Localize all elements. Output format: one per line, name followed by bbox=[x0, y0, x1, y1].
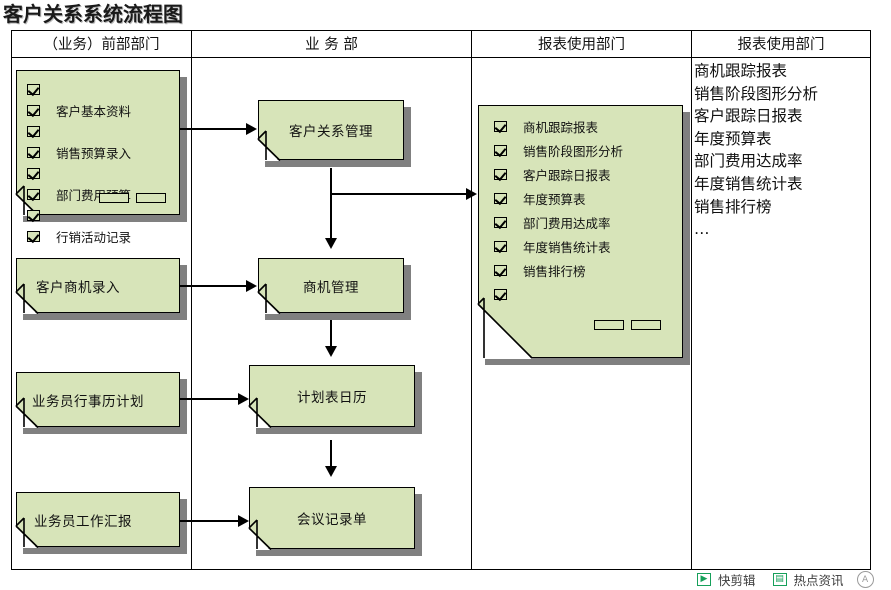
checklist-row bbox=[27, 205, 172, 226]
checklist-row: 客户基本资料 bbox=[27, 100, 172, 121]
checklist-row: 销售排行榜 bbox=[494, 258, 675, 282]
checklist-row bbox=[27, 163, 172, 184]
checkbox-checked-icon[interactable] bbox=[27, 168, 40, 179]
checkbox-checked-icon[interactable] bbox=[27, 231, 40, 242]
checkbox-checked-icon[interactable] bbox=[27, 189, 40, 200]
node-report-document[interactable]: 商机跟踪报表 销售阶段图形分析 客户跟踪日报表 年度预算表 部门费用达成率 年度… bbox=[478, 105, 683, 358]
node-input-document[interactable]: 客户基本资料 销售预算录入 部门费用预算 行销活动记录 bbox=[16, 70, 180, 215]
arrow-head-down-icon bbox=[325, 346, 337, 357]
checkbox-checked-icon[interactable] bbox=[494, 265, 507, 276]
arrow-head-down-icon bbox=[325, 466, 337, 477]
connector-line bbox=[180, 520, 240, 522]
checklist-row: 客户跟踪日报表 bbox=[494, 162, 675, 186]
checklist-row: 部门费用达成率 bbox=[494, 210, 675, 234]
arrow-head-right-icon bbox=[246, 123, 257, 135]
checklist-row: 销售阶段图形分析 bbox=[494, 138, 675, 162]
connector-line bbox=[330, 193, 468, 195]
checklist-label: 客户基本资料 bbox=[56, 101, 131, 120]
column-header-front-department: （业务）前部部门 bbox=[12, 31, 191, 59]
checklist-label: 销售预算录入 bbox=[56, 143, 131, 162]
checkbox-checked-icon[interactable] bbox=[27, 105, 40, 116]
node-label: 计划表日历 bbox=[249, 365, 415, 427]
checklist-label: 客户跟踪日报表 bbox=[523, 165, 611, 184]
body-divider-2 bbox=[471, 58, 472, 569]
bottom-toolbar-label[interactable]: 快剪辑 bbox=[718, 570, 756, 589]
report-list-item: 销售排行榜 bbox=[694, 196, 818, 219]
checkbox-checked-icon[interactable] bbox=[494, 169, 507, 180]
checkbox-checked-icon[interactable] bbox=[27, 147, 40, 158]
node-customer-opportunity-entry[interactable]: 客户商机录入 bbox=[16, 258, 180, 313]
node-salesperson-calendar-plan[interactable]: 业务员行事历计划 bbox=[16, 372, 180, 427]
checklist-label: 销售阶段图形分析 bbox=[523, 141, 623, 160]
document-button-1[interactable] bbox=[99, 193, 129, 203]
checkbox-checked-icon[interactable] bbox=[494, 193, 507, 204]
body-divider-3 bbox=[691, 58, 692, 569]
document-button-2[interactable] bbox=[631, 320, 661, 330]
connector-line bbox=[330, 168, 332, 240]
checklist-row bbox=[27, 121, 172, 142]
checklist-label: 商机跟踪报表 bbox=[523, 117, 598, 136]
checklist-row: 销售预算录入 bbox=[27, 142, 172, 163]
report-list-item: 销售阶段图形分析 bbox=[694, 83, 818, 106]
document-button-1[interactable] bbox=[594, 320, 624, 330]
checkbox-checked-icon[interactable] bbox=[494, 145, 507, 156]
checkbox-checked-icon[interactable] bbox=[494, 289, 507, 300]
arrow-head-down-icon bbox=[325, 238, 337, 249]
node-label: 客户关系管理 bbox=[258, 100, 404, 160]
document-buttons bbox=[594, 320, 661, 330]
report-list-item: 年度销售统计表 bbox=[694, 173, 818, 196]
checklist: 客户基本资料 销售预算录入 部门费用预算 行销活动记录 bbox=[27, 79, 172, 247]
node-label: 商机管理 bbox=[258, 258, 404, 313]
checklist-row: 商机跟踪报表 bbox=[494, 114, 675, 138]
report-list-text: 商机跟踪报表 销售阶段图形分析 客户跟踪日报表 年度预算表 部门费用达成率 年度… bbox=[694, 60, 818, 241]
checkbox-checked-icon[interactable] bbox=[494, 217, 507, 228]
checkbox-checked-icon[interactable] bbox=[27, 126, 40, 137]
column-header-report-list: 报表使用部门 bbox=[692, 31, 870, 59]
table-header-row: （业务）前部部门 业 务 部 报表使用部门 报表使用部门 bbox=[11, 30, 871, 58]
node-salesperson-work-report[interactable]: 业务员工作汇报 bbox=[16, 492, 180, 547]
checkbox-checked-icon[interactable] bbox=[494, 121, 507, 132]
node-opportunity-management[interactable]: 商机管理 bbox=[258, 258, 404, 313]
checklist-label: 年度销售统计表 bbox=[523, 237, 611, 256]
checklist-label: 销售排行榜 bbox=[523, 261, 586, 280]
checklist-row: 年度销售统计表 bbox=[494, 234, 675, 258]
connector-line bbox=[180, 128, 248, 130]
connector-line bbox=[180, 398, 240, 400]
news-icon[interactable]: ▤ bbox=[773, 573, 787, 586]
report-list-item: 年度预算表 bbox=[694, 128, 818, 151]
node-label: 业务员行事历计划 bbox=[16, 372, 180, 427]
node-customer-relationship-management[interactable]: 客户关系管理 bbox=[258, 100, 404, 160]
column-header-report-department: 报表使用部门 bbox=[472, 31, 691, 59]
checklist-label: 年度预算表 bbox=[523, 189, 586, 208]
column-header-business-department: 业 务 部 bbox=[192, 31, 471, 59]
node-label: 业务员工作汇报 bbox=[16, 492, 180, 547]
checklist-label: 部门费用达成率 bbox=[523, 213, 611, 232]
checkbox-checked-icon[interactable] bbox=[27, 210, 40, 221]
report-list-item: … bbox=[694, 218, 818, 241]
page-title: 客户关系系统流程图 bbox=[3, 0, 183, 27]
bottom-toolbar: ▶ 快剪辑 ▤ 热点资讯 A bbox=[697, 570, 874, 589]
checklist-row: 年度预算表 bbox=[494, 186, 675, 210]
node-label: 客户商机录入 bbox=[16, 258, 180, 313]
report-list-item: 商机跟踪报表 bbox=[694, 60, 818, 83]
report-list-item: 客户跟踪日报表 bbox=[694, 105, 818, 128]
connector-line bbox=[330, 440, 332, 468]
checklist-row: 行销活动记录 bbox=[27, 226, 172, 247]
play-icon[interactable]: ▶ bbox=[697, 573, 711, 586]
bottom-toolbar-label[interactable]: 热点资讯 bbox=[794, 570, 844, 589]
document-buttons bbox=[99, 193, 166, 203]
report-list-item: 部门费用达成率 bbox=[694, 150, 818, 173]
node-label: 会议记录单 bbox=[249, 487, 415, 549]
node-meeting-minutes[interactable]: 会议记录单 bbox=[249, 487, 415, 549]
checklist: 商机跟踪报表 销售阶段图形分析 客户跟踪日报表 年度预算表 部门费用达成率 年度… bbox=[494, 114, 675, 306]
node-schedule-calendar[interactable]: 计划表日历 bbox=[249, 365, 415, 427]
checkbox-checked-icon[interactable] bbox=[27, 84, 40, 95]
document-button-2[interactable] bbox=[136, 193, 166, 203]
folded-corner-icon bbox=[477, 304, 532, 359]
arrow-head-right-icon bbox=[246, 280, 257, 292]
checklist-row bbox=[27, 79, 172, 100]
arrow-head-right-icon bbox=[238, 393, 249, 405]
circle-a-icon[interactable]: A bbox=[857, 571, 874, 588]
checklist-row bbox=[494, 282, 675, 306]
body-divider-1 bbox=[191, 58, 192, 569]
connector-line bbox=[180, 285, 248, 287]
arrow-head-right-icon bbox=[238, 515, 249, 527]
arrow-head-right-icon bbox=[466, 188, 477, 200]
connector-line bbox=[330, 320, 332, 348]
checkbox-checked-icon[interactable] bbox=[494, 241, 507, 252]
checklist-label: 行销活动记录 bbox=[56, 227, 131, 246]
